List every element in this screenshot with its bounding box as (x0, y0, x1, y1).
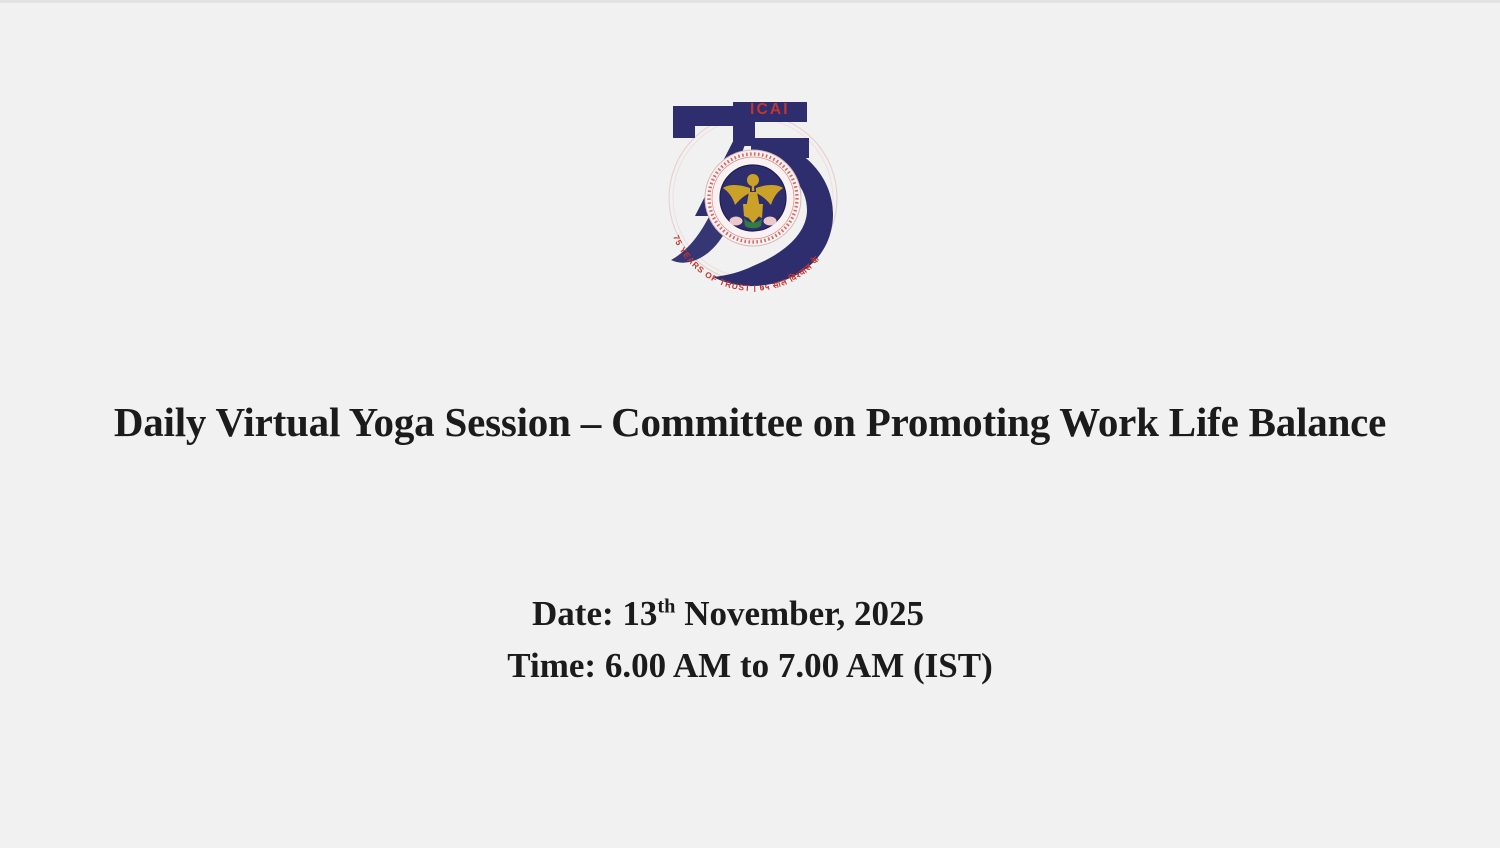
session-title: Daily Virtual Yoga Session – Committee o… (0, 398, 1500, 446)
icai-logo-svg: ICAI (655, 92, 851, 292)
top-edge-divider (0, 0, 1500, 3)
date-month-year: November, 2025 (684, 594, 924, 633)
session-date-line: Date: 13th November, 2025 (0, 588, 1500, 640)
time-label: Time: (507, 646, 596, 685)
logo-seal (705, 150, 801, 246)
time-value: 6.00 AM to 7.00 AM (IST) (605, 646, 993, 685)
date-day: 13 (622, 594, 657, 633)
session-time-line: Time: 6.00 AM to 7.00 AM (IST) (0, 640, 1500, 692)
date-label: Date: (532, 594, 614, 633)
logo-lotus-left (730, 217, 743, 226)
slide-canvas: ICAI (0, 0, 1500, 848)
session-details: Date: 13th November, 2025 Time: 6.00 AM … (0, 588, 1500, 692)
date-day-suffix: th (657, 595, 675, 617)
logo-lotus-right (764, 217, 777, 226)
logo-icai-wordmark: ICAI (750, 101, 790, 118)
icai-75-years-logo: ICAI (655, 92, 851, 292)
